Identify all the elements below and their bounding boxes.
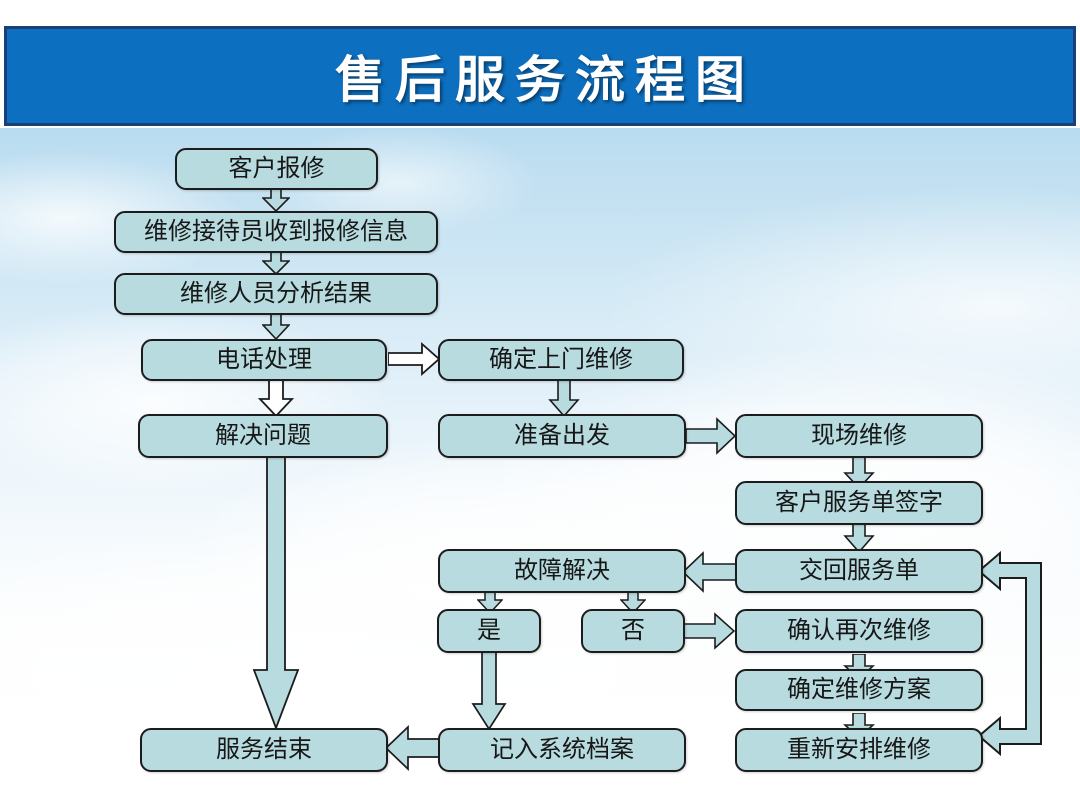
node-return-service-form[interactable]: 交回服务单 xyxy=(735,549,983,593)
node-label: 确定维修方案 xyxy=(787,678,931,702)
arrow-record-system-to-service-end xyxy=(385,723,443,773)
arrow-problem-solved-to-service-end xyxy=(252,455,300,730)
node-problem-solved[interactable]: 解决问题 xyxy=(138,414,388,458)
node-label: 客户服务单签字 xyxy=(775,491,943,515)
node-label: 维修接待员收到报修信息 xyxy=(144,220,408,244)
node-label: 故障解决 xyxy=(514,559,610,583)
arrow-reschedule-feedback-loop-to-return-form xyxy=(978,548,1056,768)
node-confirm-rerepair[interactable]: 确认再次维修 xyxy=(735,609,983,653)
node-label: 重新安排维修 xyxy=(787,738,931,762)
node-yes[interactable]: 是 xyxy=(437,609,541,653)
node-label: 确认再次维修 xyxy=(787,619,931,643)
node-technician-analysis[interactable]: 维修人员分析结果 xyxy=(114,273,438,315)
node-confirm-onsite[interactable]: 确定上门维修 xyxy=(438,339,684,381)
node-label: 现场维修 xyxy=(811,424,907,448)
node-label: 否 xyxy=(621,619,645,643)
node-receptionist-received[interactable]: 维修接待员收到报修信息 xyxy=(114,211,438,253)
page-title: 售后服务流程图 xyxy=(7,29,1073,123)
arrow-phone-handling-to-confirm-onsite xyxy=(388,341,440,377)
node-label: 准备出发 xyxy=(514,424,610,448)
node-label: 确定上门维修 xyxy=(489,348,633,372)
arrow-yes-to-record-system xyxy=(471,650,507,730)
arrow-phone-handling-to-problem-solved xyxy=(258,377,294,417)
node-label: 交回服务单 xyxy=(799,559,919,583)
node-fault-resolved[interactable]: 故障解决 xyxy=(438,549,686,593)
arrow-no-to-confirm-rerepair xyxy=(683,609,735,653)
node-reschedule-repair[interactable]: 重新安排维修 xyxy=(735,728,983,772)
node-service-form-signed[interactable]: 客户服务单签字 xyxy=(735,481,983,525)
arrow-prepare-departure-to-onsite-repair xyxy=(686,415,736,457)
node-customer-report[interactable]: 客户报修 xyxy=(175,148,378,190)
node-label: 服务结束 xyxy=(216,738,312,762)
node-label: 维修人员分析结果 xyxy=(180,282,372,306)
flowchart-slide: 售后服务流程图 xyxy=(0,0,1080,810)
title-banner: 售后服务流程图 xyxy=(4,26,1076,126)
arrow-confirm-onsite-to-prepare-departure xyxy=(548,377,580,417)
node-no[interactable]: 否 xyxy=(581,609,685,653)
node-label: 是 xyxy=(477,619,501,643)
arrow-return-form-to-fault-resolved xyxy=(682,549,738,595)
node-label: 客户报修 xyxy=(229,157,325,181)
node-prepare-departure[interactable]: 准备出发 xyxy=(438,414,686,458)
node-label: 解决问题 xyxy=(215,424,311,448)
node-onsite-repair[interactable]: 现场维修 xyxy=(735,414,983,458)
node-label: 电话处理 xyxy=(216,348,312,372)
node-label: 记入系统档案 xyxy=(490,738,634,762)
arrow-analysis-to-phone-handling xyxy=(262,312,290,340)
node-record-to-system[interactable]: 记入系统档案 xyxy=(438,728,686,772)
node-service-end[interactable]: 服务结束 xyxy=(140,728,388,772)
node-phone-handling[interactable]: 电话处理 xyxy=(141,339,387,381)
node-confirm-repair-plan[interactable]: 确定维修方案 xyxy=(735,669,983,711)
